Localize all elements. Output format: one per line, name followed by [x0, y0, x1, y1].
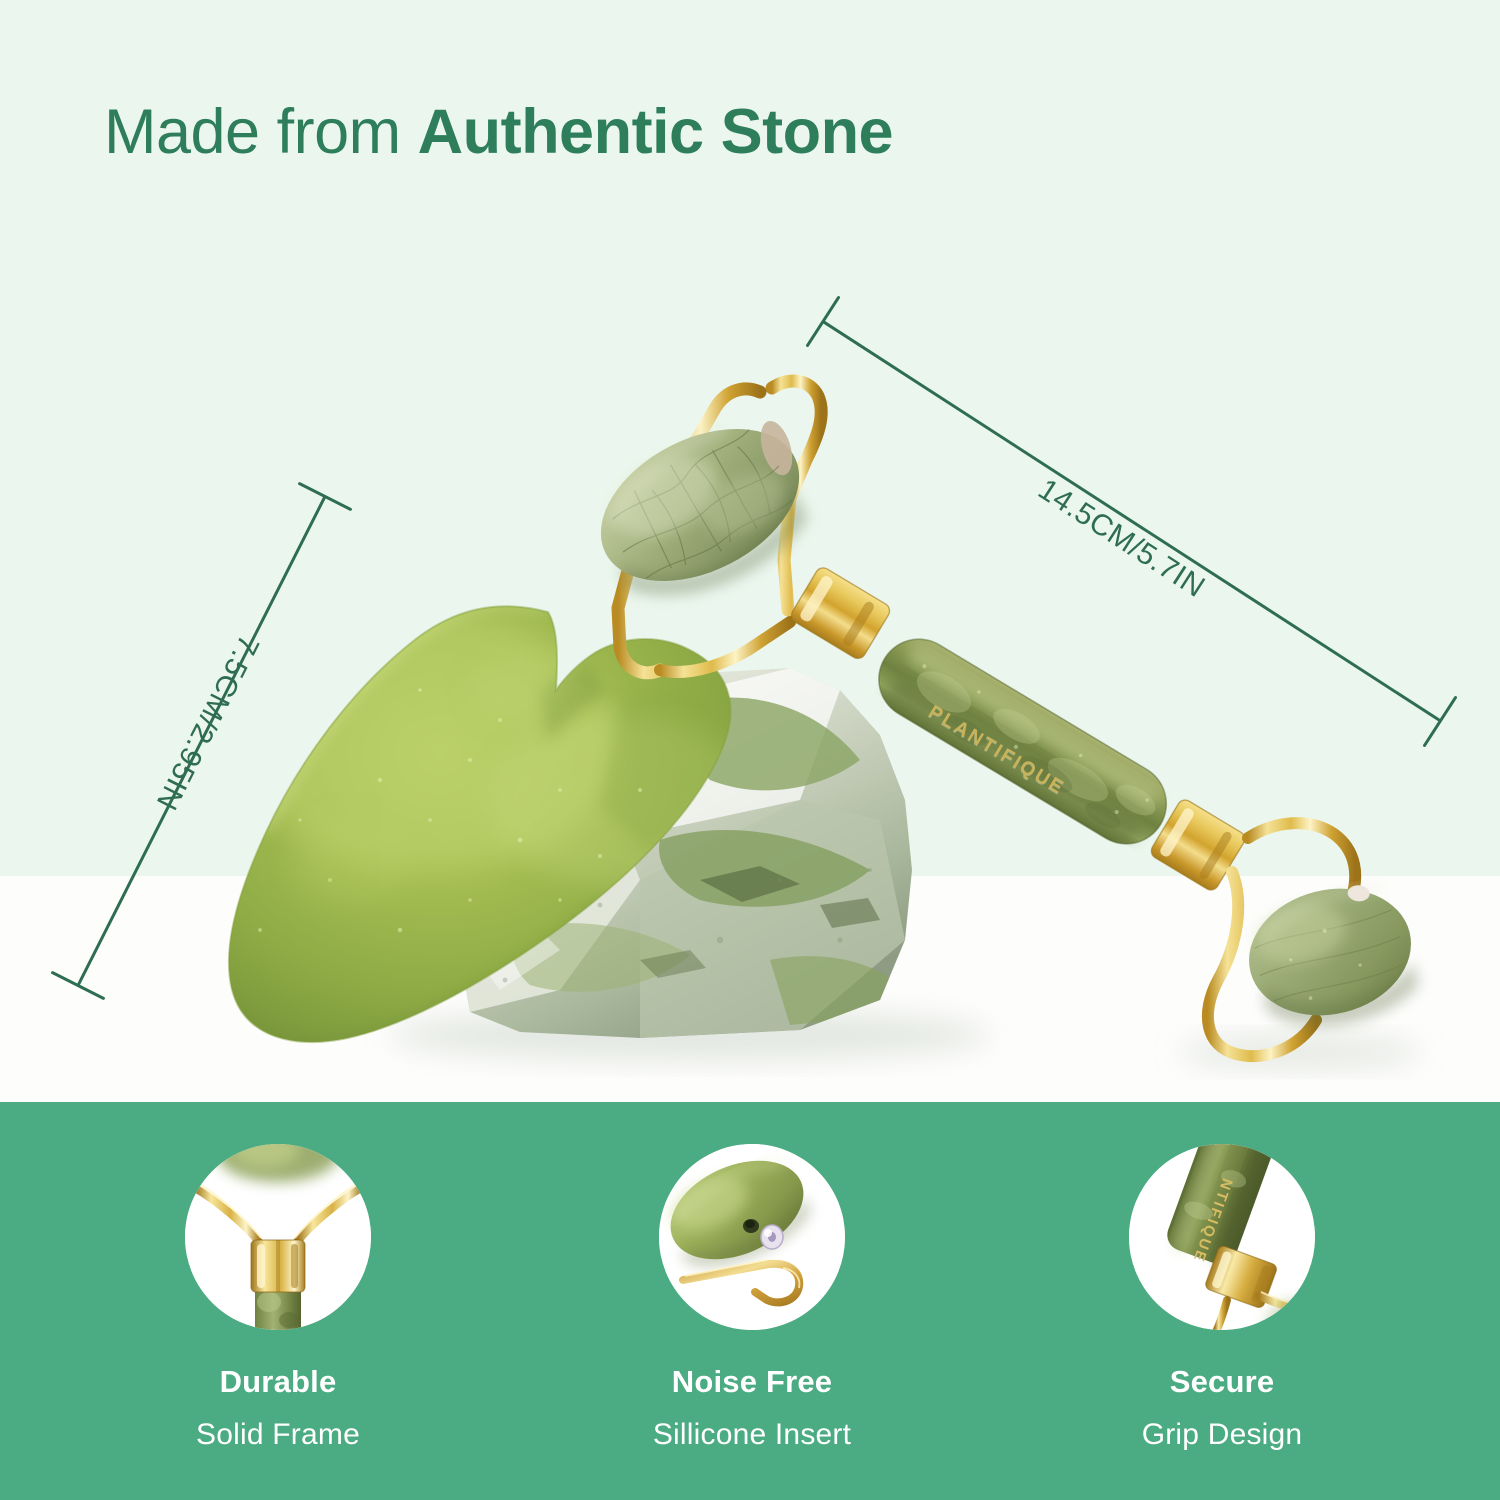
- infographic-canvas: Made from Authentic Stone: [0, 0, 1500, 1500]
- silicone-insert-icon: [659, 1144, 845, 1330]
- feature-subtitle: Sillicone Insert: [502, 1418, 1002, 1452]
- feature-subtitle: Grip Design: [972, 1418, 1472, 1452]
- feature-list: Durable Solid Frame: [0, 1102, 1500, 1500]
- feature-title: Secure: [972, 1364, 1472, 1400]
- feature-title: Durable: [28, 1364, 528, 1400]
- product-photo-stage: PLANTIFIQUE 14.5CM/5.7IN 7.5CM/2.95IN: [0, 0, 1500, 1102]
- feature-subtitle: Solid Frame: [28, 1418, 528, 1452]
- gold-fork-frame-icon: [185, 1144, 371, 1330]
- feature-item-durable: Durable Solid Frame: [28, 1102, 528, 1500]
- feature-title: Noise Free: [502, 1364, 1002, 1400]
- product-illustration: [0, 0, 1500, 1102]
- feature-item-noise-free: Noise Free Sillicone Insert: [502, 1102, 1002, 1500]
- feature-item-secure: NTIFIQUE Secure: [972, 1102, 1472, 1500]
- engraved-grip-icon: NTIFIQUE: [1129, 1144, 1315, 1330]
